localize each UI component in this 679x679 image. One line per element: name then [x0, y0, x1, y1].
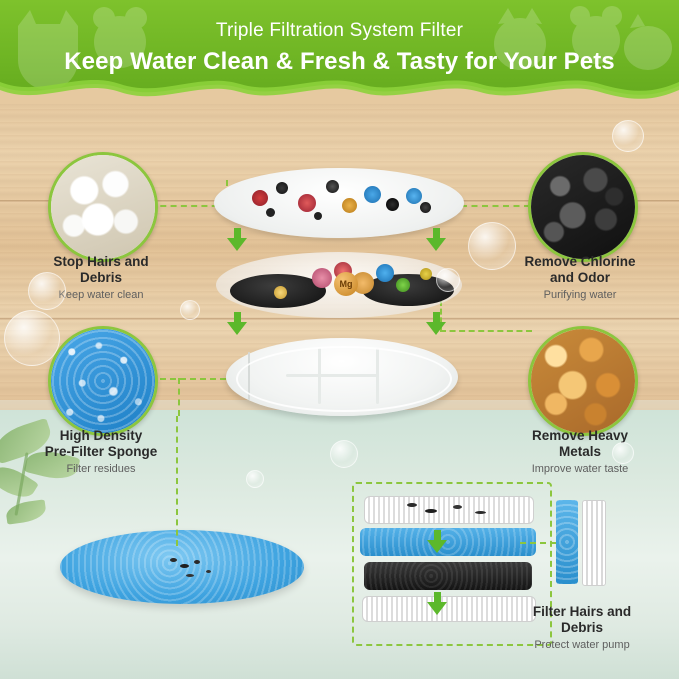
- blue-sponge-layer: [360, 528, 536, 556]
- flow-arrow-icon: [227, 238, 247, 251]
- blue-sponge-strip: [556, 500, 578, 584]
- mineral-badge: Mg: [334, 272, 358, 296]
- callout-title-line2: and Odor: [550, 270, 610, 285]
- callout-title-line1: Remove Heavy: [532, 428, 628, 443]
- callout-title-line2: Metals: [559, 444, 601, 459]
- mesh-top-layer: [364, 496, 534, 524]
- callout-title-line2: Debris: [561, 620, 603, 635]
- callout-caption-sponge: High DensityPre-Filter Sponge Filter res…: [18, 428, 184, 476]
- filter-tray: [226, 338, 458, 416]
- blue-sponge-icon: [51, 329, 155, 433]
- blue-pre-filter-sponge: [60, 530, 304, 604]
- header-title: Triple Filtration System Filter: [0, 20, 679, 42]
- callout-subtitle: Purifying water: [498, 288, 662, 302]
- callout-title-line1: Remove Chlorine: [524, 254, 635, 269]
- connector-line: [520, 542, 556, 544]
- bubble-decoration: [180, 300, 200, 320]
- bubble-decoration: [436, 268, 460, 292]
- carbon-mineral-layer-disc: Mg: [216, 252, 462, 318]
- wood-seam: [0, 318, 679, 321]
- cotton-ball-icon: [51, 155, 155, 259]
- flow-arrow-icon: [227, 322, 247, 335]
- callout-title-line2: Pre-Filter Sponge: [45, 444, 158, 459]
- debris-layer-disc: [214, 168, 464, 238]
- bubble-decoration: [612, 120, 644, 152]
- bubble-decoration: [330, 440, 358, 468]
- header-banner: Triple Filtration System Filter Keep Wat…: [0, 0, 679, 104]
- callout-icon-carbon: [528, 152, 638, 262]
- carbon-layer: [364, 562, 532, 590]
- callout-caption-resin: Remove HeavyMetals Improve water taste: [496, 428, 664, 476]
- callout-subtitle: Protect water pump: [498, 638, 666, 652]
- callout-icon-resin: [528, 326, 638, 436]
- bubble-decoration: [28, 272, 66, 310]
- bubble-decoration: [612, 442, 634, 464]
- connector-line: [176, 416, 178, 546]
- connector-line: [178, 378, 180, 416]
- callout-title-line1: Stop Hairs and: [53, 254, 148, 269]
- bubble-decoration: [4, 310, 60, 366]
- bubble-decoration: [246, 470, 264, 488]
- activated-carbon-icon: [531, 155, 635, 259]
- flow-arrow-icon: [427, 602, 447, 615]
- product-infographic: Triple Filtration System Filter Keep Wat…: [0, 0, 679, 679]
- flow-arrow-icon: [426, 238, 446, 251]
- callout-icon-cotton: [48, 152, 158, 262]
- flow-arrow-icon: [427, 540, 447, 553]
- callout-title-line2: Debris: [80, 270, 122, 285]
- callout-caption-carbon: Remove Chlorineand Odor Purifying water: [498, 254, 662, 302]
- wave-divider-icon: [0, 80, 679, 104]
- callout-subtitle: Improve water taste: [496, 462, 664, 476]
- callout-icon-sponge: [48, 326, 158, 436]
- callout-subtitle: Filter residues: [18, 462, 184, 476]
- flow-arrow-icon: [426, 322, 446, 335]
- white-mesh-strip: [582, 500, 606, 586]
- header-subtitle: Keep Water Clean & Fresh & Tasty for You…: [0, 48, 679, 76]
- ion-resin-beads-icon: [531, 329, 635, 433]
- callout-caption-hairs: Filter Hairs andDebris Protect water pum…: [498, 604, 666, 652]
- callout-title-line1: Filter Hairs and: [533, 604, 631, 619]
- connector-line: [440, 330, 532, 332]
- bubble-decoration: [468, 222, 516, 270]
- callout-title-line1: High Density: [60, 428, 143, 443]
